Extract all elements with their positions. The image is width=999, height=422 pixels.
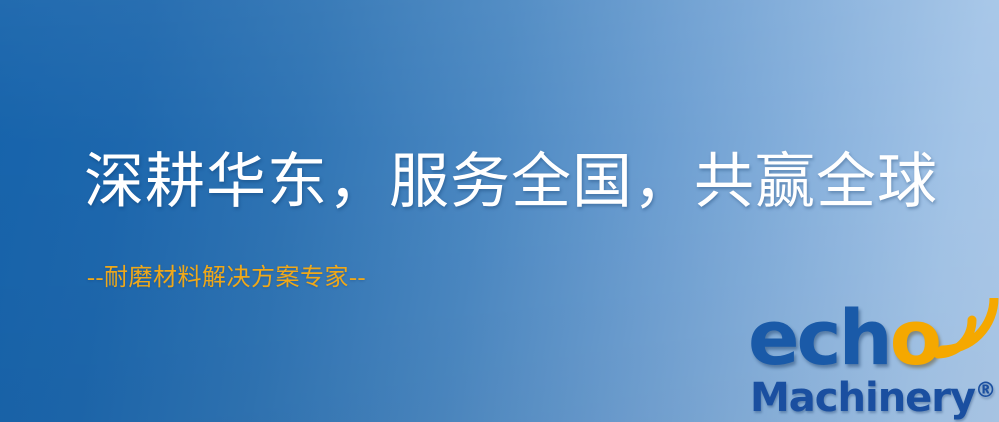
logo-brandline: Machinery® xyxy=(750,370,996,418)
registered-trademark-icon: ® xyxy=(975,378,996,402)
promo-banner: 深耕华东，服务全国，共赢全球 --耐磨材料解决方案专家-- echo Machi… xyxy=(0,0,999,422)
banner-headline: 深耕华东，服务全国，共赢全球 xyxy=(84,152,938,212)
logo-wordmark-prefix: ech xyxy=(748,293,890,382)
logo-wordmark: echo xyxy=(748,300,939,376)
banner-subtitle: --耐磨材料解决方案专家-- xyxy=(87,266,366,290)
signal-waves-icon xyxy=(932,298,999,360)
company-logo: echo Machinery® xyxy=(748,300,996,418)
logo-brandline-text: Machinery xyxy=(750,375,975,421)
